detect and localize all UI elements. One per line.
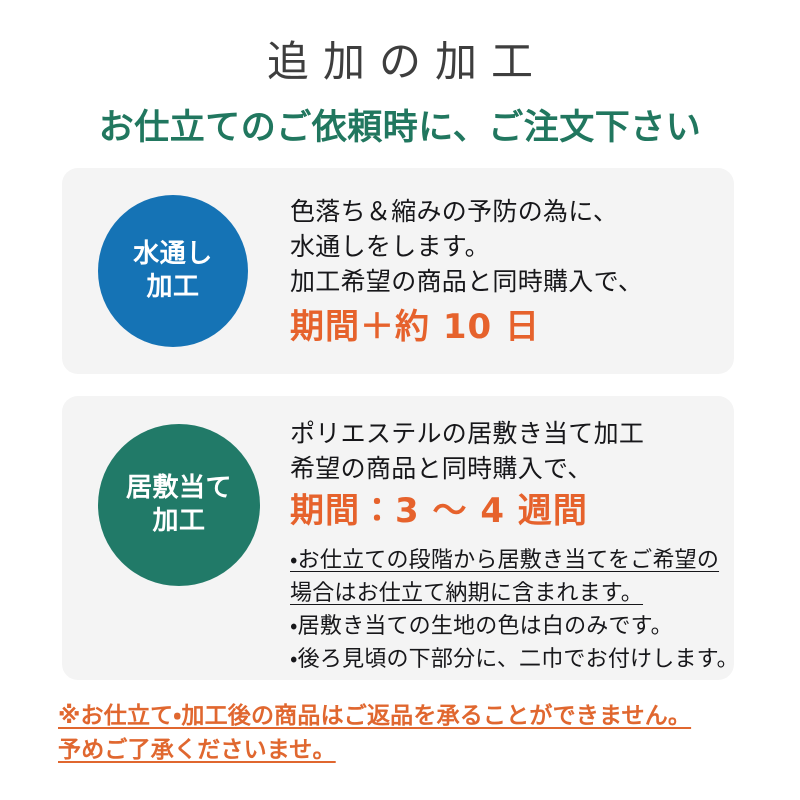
card-ishiki-text-line-2: 希望の商品と同時購入で、 <box>290 451 720 486</box>
footer-notice: ※お仕立て・加工後の商品はご返品を承ることができません。 予めご了承くださいませ… <box>58 699 758 767</box>
note-item: ・居敷き当ての生地の色は白のみです。 <box>290 610 720 643</box>
badge-water-treatment: 水通し 加工 <box>98 195 248 347</box>
note-item: ・お仕立ての段階から居敷き当てをご希望の <box>290 544 720 577</box>
badge-label-line1: 居敷当て <box>126 472 232 505</box>
card-water-duration-highlight: 期間＋約 10 日 <box>290 304 720 350</box>
page-subtitle: お仕立てのご依頼時に、ご注文下さい <box>0 107 800 149</box>
card-ishiki-body: ポリエステルの居敷き当て加工 希望の商品と同時購入で、 期間：3 ～ 4 週間 … <box>290 416 720 676</box>
infographic-page: 追加の加工 お仕立てのご依頼時に、ご注文下さい 水通し 加工 色落ち＆縮みの予防… <box>0 0 800 800</box>
footer-notice-line-1: ※お仕立て・加工後の商品はご返品を承ることができません。 <box>58 699 758 733</box>
card-ishiki-duration-highlight: 期間：3 ～ 4 週間 <box>290 488 720 534</box>
badge-label-line2: 加工 <box>146 271 199 304</box>
card-water-text-line-2: 水通しをします。 <box>290 229 720 264</box>
card-ishiki-note-list: ・お仕立ての段階から居敷き当てをご希望の 場合はお仕立て納期に含まれます。 ・居… <box>290 544 720 676</box>
card-water-text-line-3: 加工希望の商品と同時購入で、 <box>290 264 720 299</box>
note-item: 場合はお仕立て納期に含まれます。 <box>290 577 720 610</box>
badge-label-line1: 水通し <box>133 238 213 271</box>
footer-notice-line-2: 予めご了承くださいませ。 <box>58 733 758 767</box>
card-ishiki-text-line-1: ポリエステルの居敷き当て加工 <box>290 416 720 451</box>
card-ishiki-ate-treatment: 居敷当て 加工 ポリエステルの居敷き当て加工 希望の商品と同時購入で、 期間：3… <box>62 396 734 680</box>
badge-ishiki-ate-treatment: 居敷当て 加工 <box>98 424 260 586</box>
card-water-body: 色落ち＆縮みの予防の為に、 水通しをします。 加工希望の商品と同時購入で、 期間… <box>290 194 720 350</box>
badge-label-line2: 加工 <box>152 505 205 538</box>
card-water-treatment: 水通し 加工 色落ち＆縮みの予防の為に、 水通しをします。 加工希望の商品と同時… <box>62 168 734 374</box>
note-item: ・後ろ見頃の下部分に、二巾でお付けします。 <box>290 643 720 676</box>
page-title: 追加の加工 <box>0 38 800 86</box>
card-water-text-line-1: 色落ち＆縮みの予防の為に、 <box>290 194 720 229</box>
